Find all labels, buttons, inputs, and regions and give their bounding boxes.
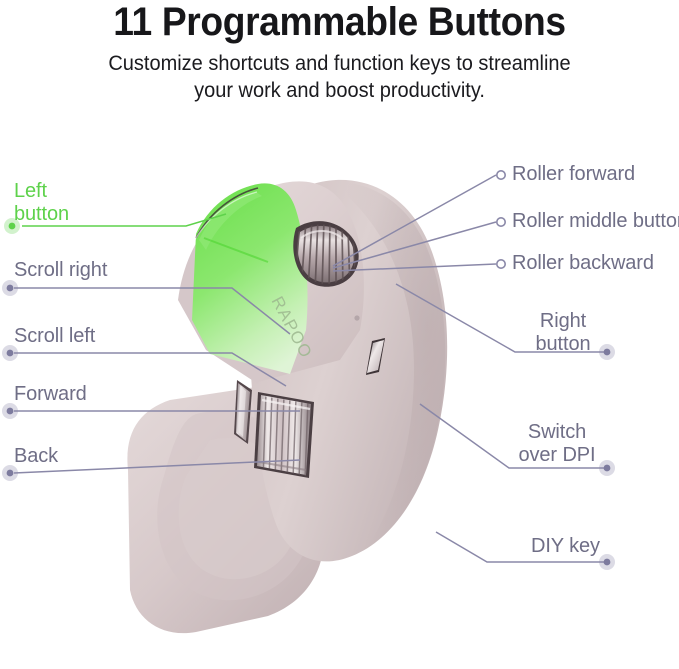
marker-roller-middle[interactable] bbox=[497, 218, 505, 226]
callout-right-button-line-1: Right bbox=[524, 310, 602, 333]
callout-label-forward[interactable]: Forward bbox=[14, 383, 87, 406]
callout-left-button-line-1: Left bbox=[14, 180, 69, 203]
led-indicator bbox=[354, 315, 359, 320]
callout-label-roller-backward[interactable]: Roller backward bbox=[512, 252, 654, 275]
marker-diy-key[interactable] bbox=[599, 554, 615, 570]
infographic-canvas: 11 Programmable Buttons Customize shortc… bbox=[0, 0, 679, 669]
callout-right-button-line-2: button bbox=[524, 333, 602, 356]
marker-scroll-right[interactable] bbox=[2, 280, 18, 296]
callout-label-roller-middle-button[interactable]: Roller middle button bbox=[512, 210, 679, 233]
marker-roller-forward[interactable] bbox=[497, 171, 505, 179]
callout-left-button-line-2: button bbox=[14, 203, 69, 226]
callout-label-right-button[interactable]: Right button bbox=[524, 310, 602, 355]
callout-switch-dpi-line-2: over DPI bbox=[512, 444, 602, 467]
callout-label-scroll-left[interactable]: Scroll left bbox=[14, 325, 95, 348]
callout-switch-dpi-line-1: Switch bbox=[512, 421, 602, 444]
callout-label-back[interactable]: Back bbox=[14, 445, 58, 468]
callout-label-roller-forward[interactable]: Roller forward bbox=[512, 163, 635, 186]
callout-label-scroll-right[interactable]: Scroll right bbox=[14, 259, 107, 282]
callout-label-diy-key[interactable]: DIY key bbox=[531, 535, 600, 558]
callout-label-switch-over-dpi[interactable]: Switch over DPI bbox=[512, 421, 602, 466]
callout-label-left-button[interactable]: Left button bbox=[14, 180, 69, 225]
marker-roller-backward[interactable] bbox=[497, 260, 505, 268]
